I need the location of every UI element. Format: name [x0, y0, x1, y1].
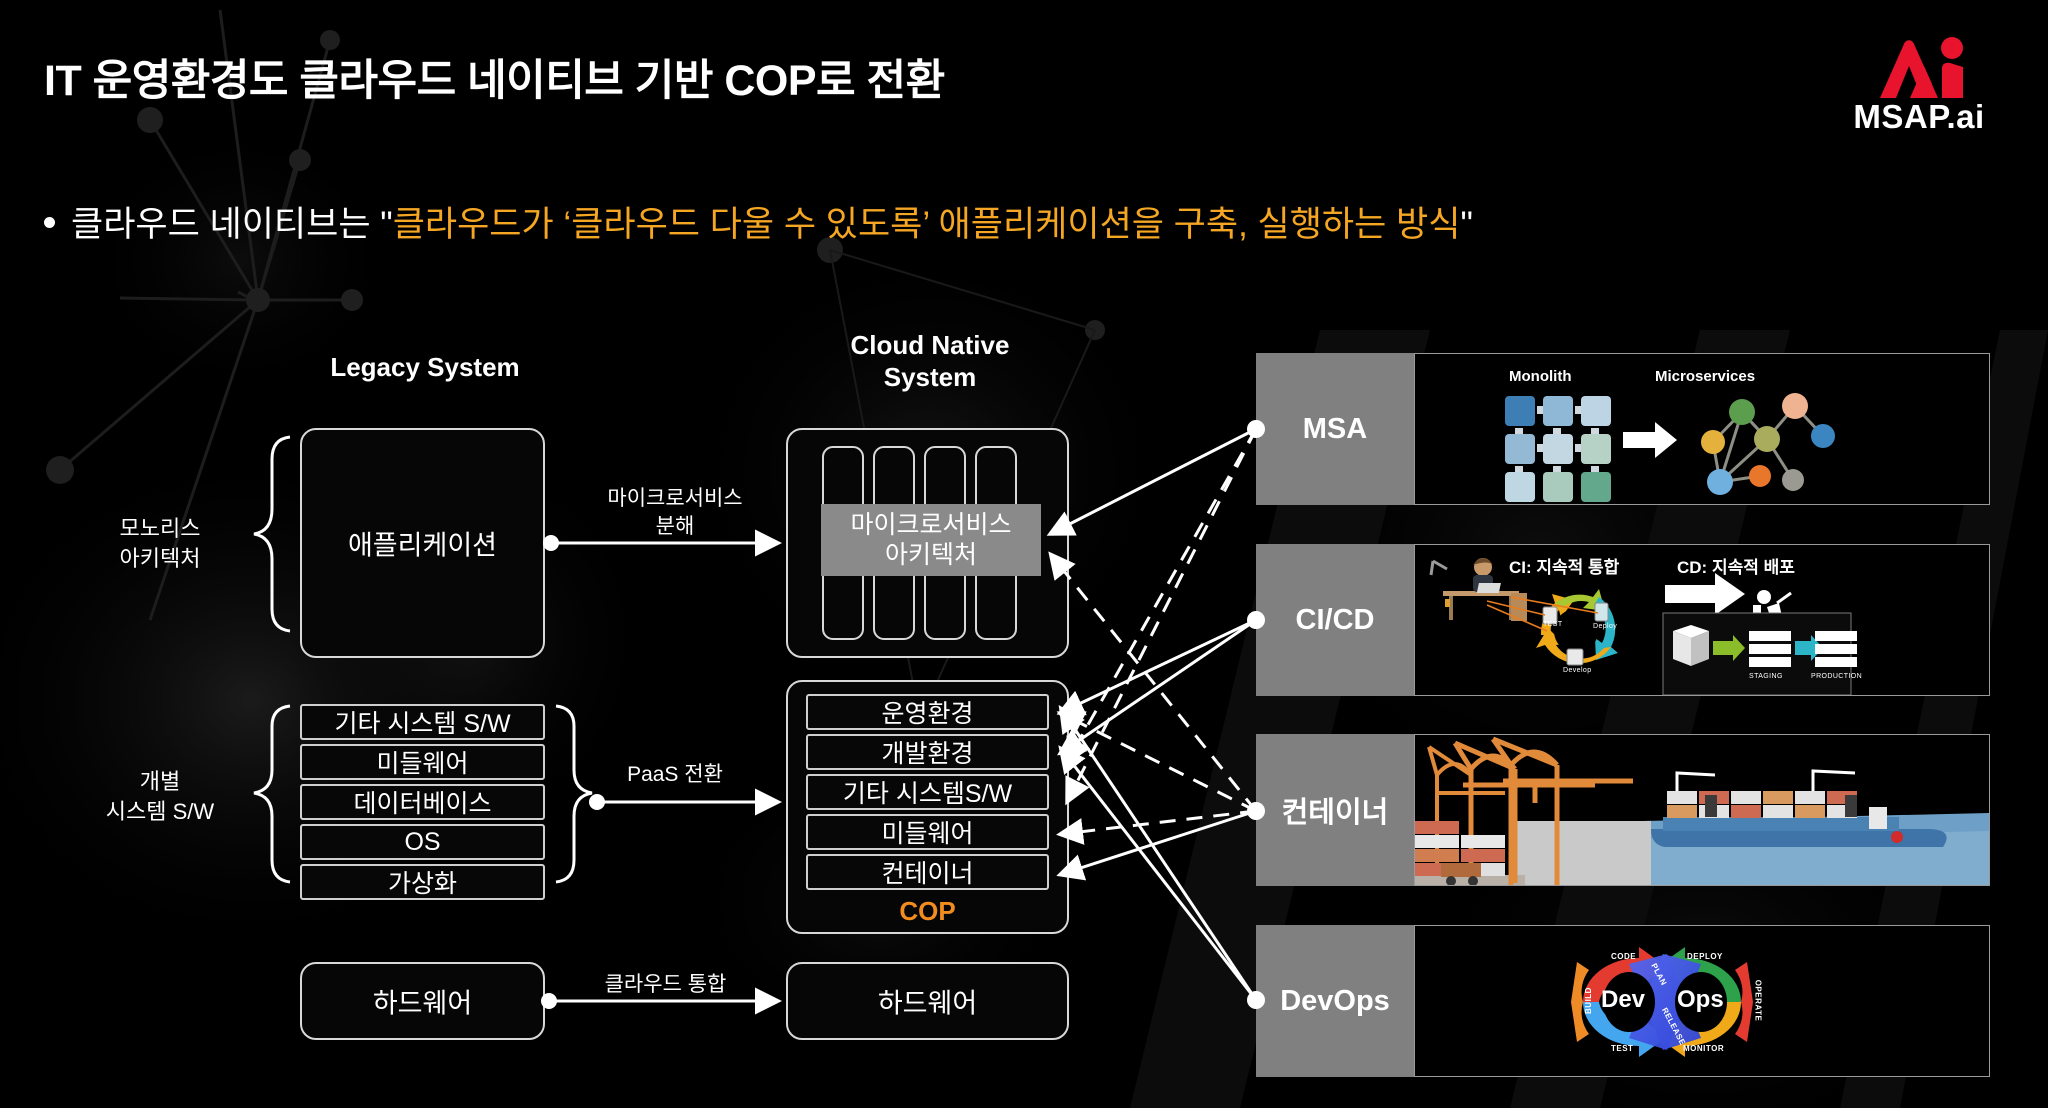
transformation-diagram: Legacy System Cloud Native System 모노리스 아…: [0, 0, 2048, 1108]
bullet-tail-text: ": [1460, 205, 1472, 245]
bullet-highlight-text: 클라우드가 ‘클라우드 다울 수 있도록’ 애플리케이션을 구축, 실행하는 방…: [393, 196, 1461, 247]
connector-layer: [0, 0, 2048, 1108]
bullet-lead-text: 클라우드 네이티브는 ": [71, 196, 393, 247]
msap-ai-logo: MSAP.ai: [1826, 28, 2012, 138]
logo-wordmark: MSAP.ai: [1826, 98, 2012, 136]
page-title: IT 운영환경도 클라우드 네이티브 기반 COP로 전환: [44, 46, 945, 108]
bullet-dot-icon: [44, 217, 55, 228]
bullet-line: 클라우드 네이티브는 " 클라우드가 ‘클라우드 다울 수 있도록’ 애플리케이…: [44, 196, 1473, 247]
msap-mark-icon: [1826, 28, 2012, 104]
